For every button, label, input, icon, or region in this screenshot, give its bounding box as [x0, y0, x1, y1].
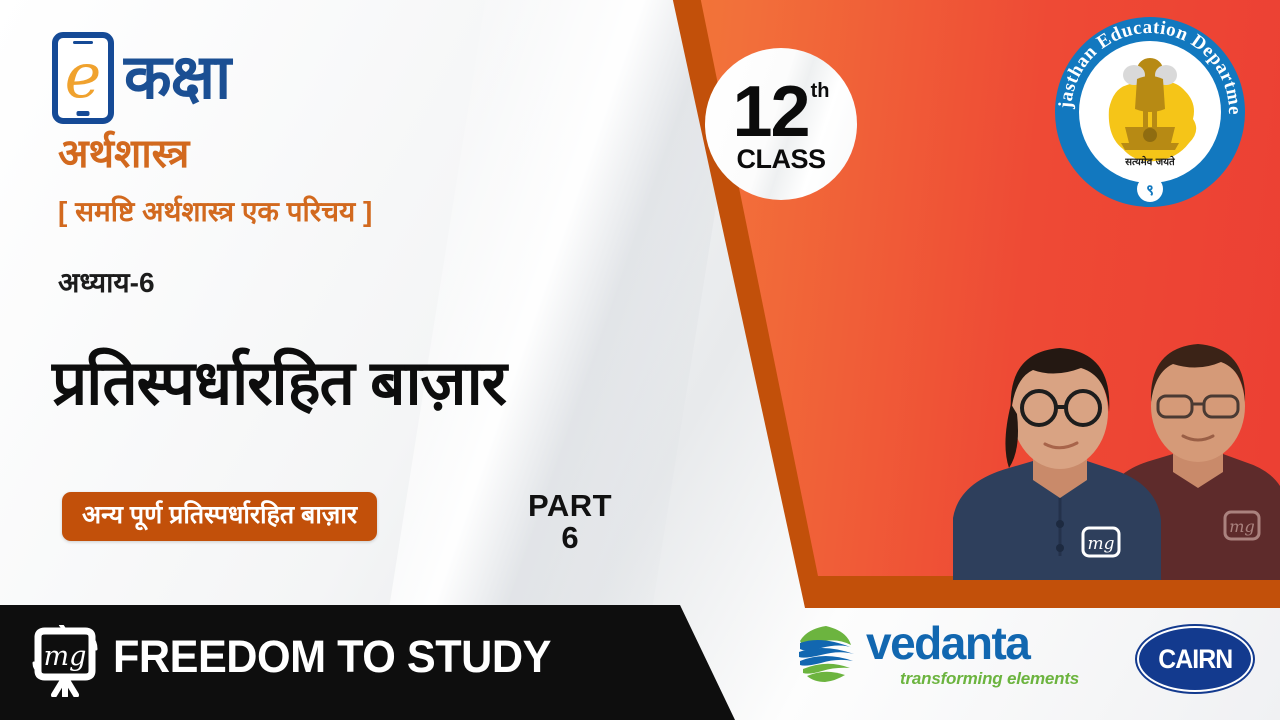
- part-indicator: PART 6: [528, 490, 612, 553]
- sponsor-cairn: CAIRN: [1137, 626, 1253, 692]
- emblem-bottom-glyph: ९: [1146, 181, 1154, 199]
- presenter-male-mg-badge: mg: [1225, 512, 1259, 539]
- vedanta-tagline: transforming elements: [900, 670, 1079, 687]
- part-label: PART: [528, 490, 612, 522]
- sponsor-vedanta: vedanta transforming elements: [795, 620, 1079, 687]
- mg-logo-icon: mg: [28, 625, 102, 697]
- part-number: 6: [528, 522, 612, 554]
- brand-logo-word: कक्षा: [124, 47, 230, 109]
- presenter-illustration: mg: [905, 236, 1280, 580]
- chapter-label: अध्याय-6: [58, 268, 155, 299]
- subject-name: अर्थशास्त्र: [58, 133, 189, 175]
- presenter-photos: mg: [905, 236, 1280, 580]
- class-number-row: 12 th: [733, 79, 830, 145]
- class-number: 12: [733, 79, 809, 145]
- brand-logo: e कक्षा: [52, 32, 230, 124]
- class-ordinal-suffix: th: [811, 81, 830, 101]
- brand-logo-e: e: [65, 45, 102, 107]
- emblem-motto: सत्यमेव जयते: [1124, 155, 1176, 168]
- svg-text:mg: mg: [1087, 534, 1114, 554]
- vedanta-globe-icon: [795, 623, 857, 685]
- mg-logo-text: mg: [44, 641, 87, 672]
- smartphone-icon: e: [52, 32, 114, 124]
- rajasthan-education-department-emblem: Rajasthan Education Department सत्यमेव ज…: [1051, 13, 1249, 211]
- presenter-female: mg: [953, 348, 1161, 580]
- class-word: CLASS: [736, 144, 825, 175]
- thumbnail-canvas: e कक्षा अर्थशास्त्र [ समष्टि अर्थशास्त्र…: [0, 0, 1280, 720]
- svg-text:mg: mg: [1229, 517, 1254, 536]
- cairn-wordmark: CAIRN: [1158, 644, 1232, 675]
- vedanta-wordmark: vedanta: [866, 620, 1079, 666]
- topic-badge: अन्य पूर्ण प्रतिस्पर्धारहित बाज़ार: [62, 492, 377, 541]
- subject-subtitle: [ समष्टि अर्थशास्त्र एक परिचय ]: [58, 197, 372, 228]
- footer-tagline: FREEDOM TO STUDY: [113, 631, 551, 683]
- class-badge: 12 th CLASS: [705, 48, 857, 200]
- page-title: प्रतिस्पर्धारहित बाज़ार: [52, 350, 506, 418]
